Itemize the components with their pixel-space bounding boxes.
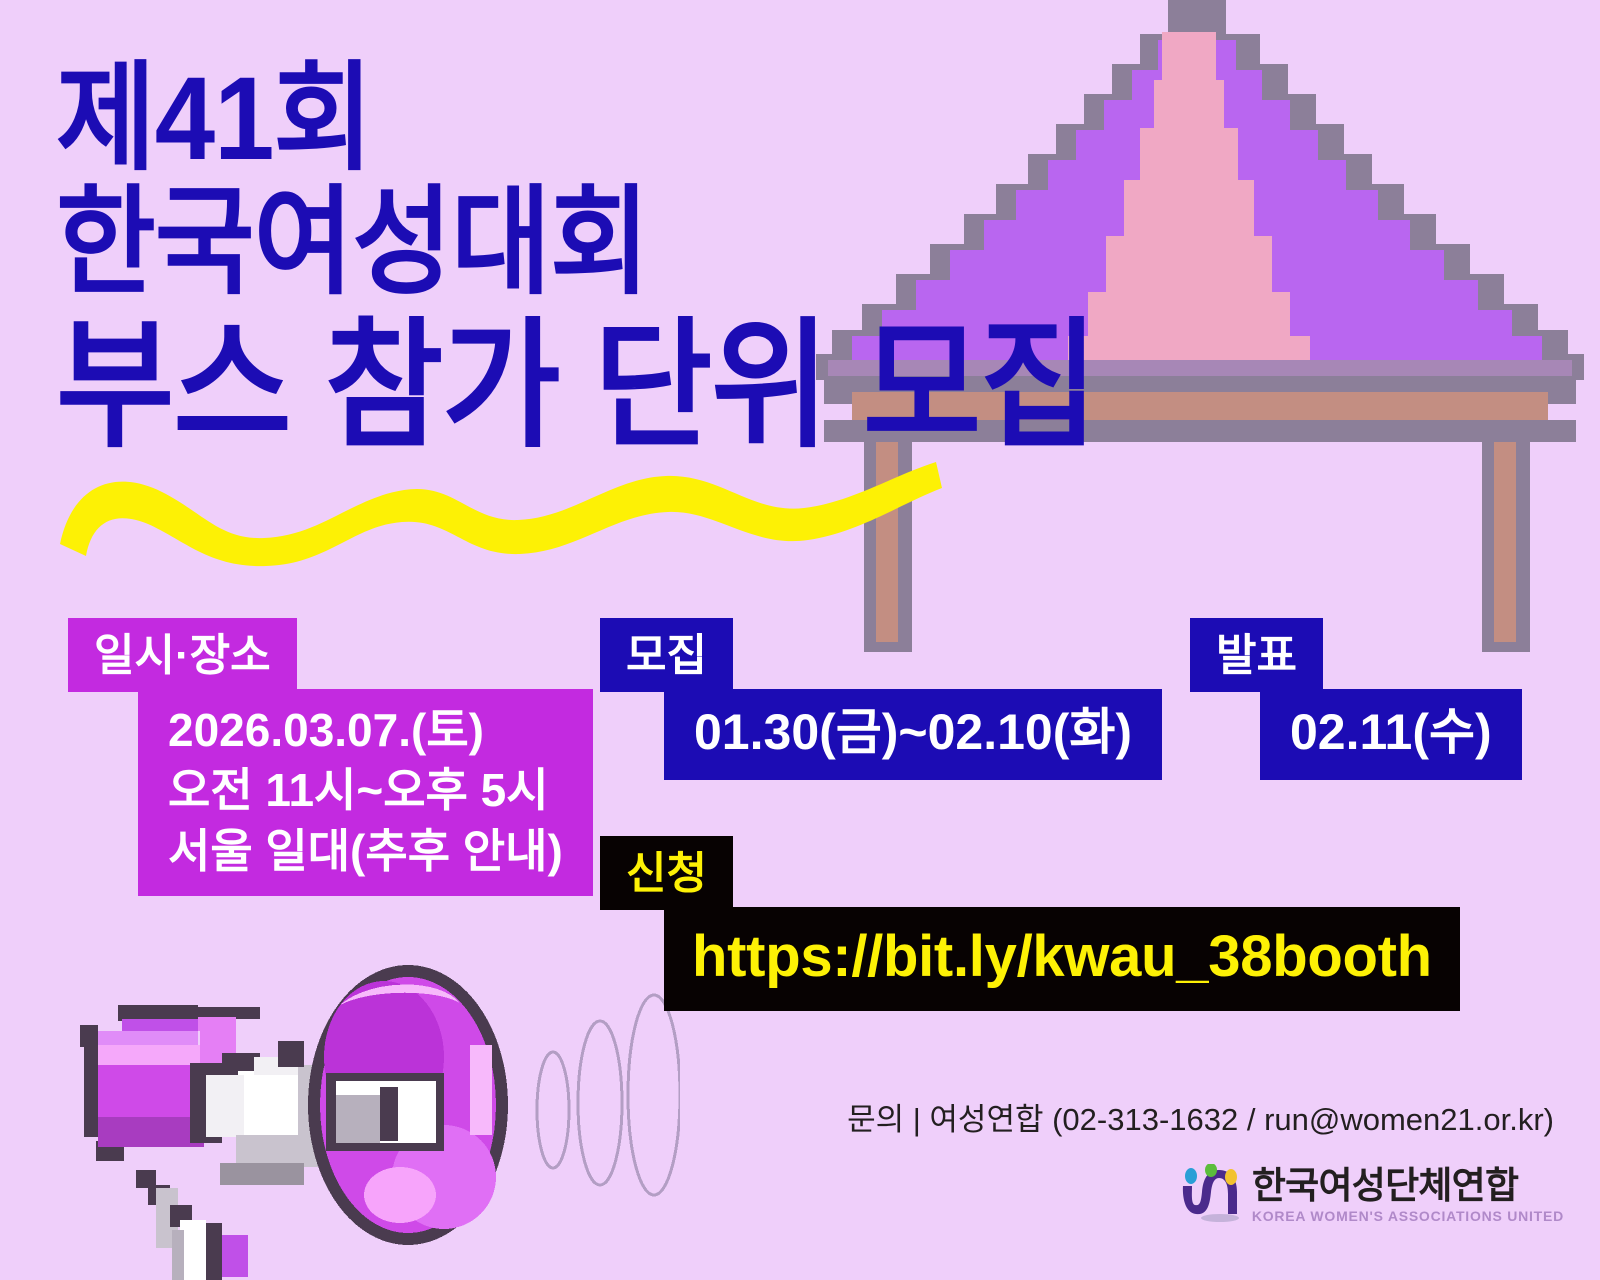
brush-stroke-icon <box>52 452 952 572</box>
title-line-2: 한국여성대회 <box>56 186 1344 302</box>
announcement-date-label: 발표 <box>1190 618 1323 692</box>
title-line-1: 제41회 <box>56 62 1344 178</box>
logo-english-name: KOREA WOMEN'S ASSOCIATIONS UNITED <box>1252 1209 1564 1223</box>
schedule-time: 오전 11시~오후 5시 <box>168 763 563 817</box>
schedule-venue-block: 일시·장소 2026.03.07.(토) 오전 11시~오후 5시 서울 일대(… <box>68 618 593 896</box>
schedule-venue-label: 일시·장소 <box>68 618 297 692</box>
recruitment-period-value: 01.30(금)~02.10(화) <box>664 689 1162 780</box>
application-block: 신청 https://bit.ly/kwau_38booth <box>600 836 1460 1011</box>
application-url[interactable]: https://bit.ly/kwau_38booth <box>664 907 1460 1011</box>
logo-korean-name: 한국여성단체연합 <box>1252 1167 1564 1204</box>
schedule-venue-value: 2026.03.07.(토) 오전 11시~오후 5시 서울 일대(추후 안내) <box>138 689 593 896</box>
announcement-date-value: 02.11(수) <box>1260 689 1522 780</box>
recruitment-period-block: 모집 01.30(금)~02.10(화) <box>600 618 1162 780</box>
application-label: 신청 <box>600 836 733 910</box>
poster-canvas: 제41회 한국여성대회 부스 참가 단위 모집 일시·장소 2026.03.07… <box>0 0 1600 1280</box>
contact-line: 문의 | 여성연합 (02-313-1632 / run@women21.or.… <box>847 1094 1554 1139</box>
recruitment-period-label: 모집 <box>600 618 733 692</box>
logo-text-group: 한국여성단체연합 KOREA WOMEN'S ASSOCIATIONS UNIT… <box>1252 1167 1564 1223</box>
schedule-date: 2026.03.07.(토) <box>168 703 563 757</box>
organization-logo: 한국여성단체연합 KOREA WOMEN'S ASSOCIATIONS UNIT… <box>1176 1164 1564 1226</box>
schedule-place: 서울 일대(추후 안내) <box>168 824 563 878</box>
kwau-logo-mark-icon <box>1176 1164 1242 1226</box>
announcement-date-block: 발표 02.11(수) <box>1190 618 1522 780</box>
megaphone-icon <box>40 945 680 1280</box>
title-line-3: 부스 참가 단위 모집 <box>56 317 1344 454</box>
poster-title: 제41회 한국여성대회 부스 참가 단위 모집 <box>56 62 1456 454</box>
